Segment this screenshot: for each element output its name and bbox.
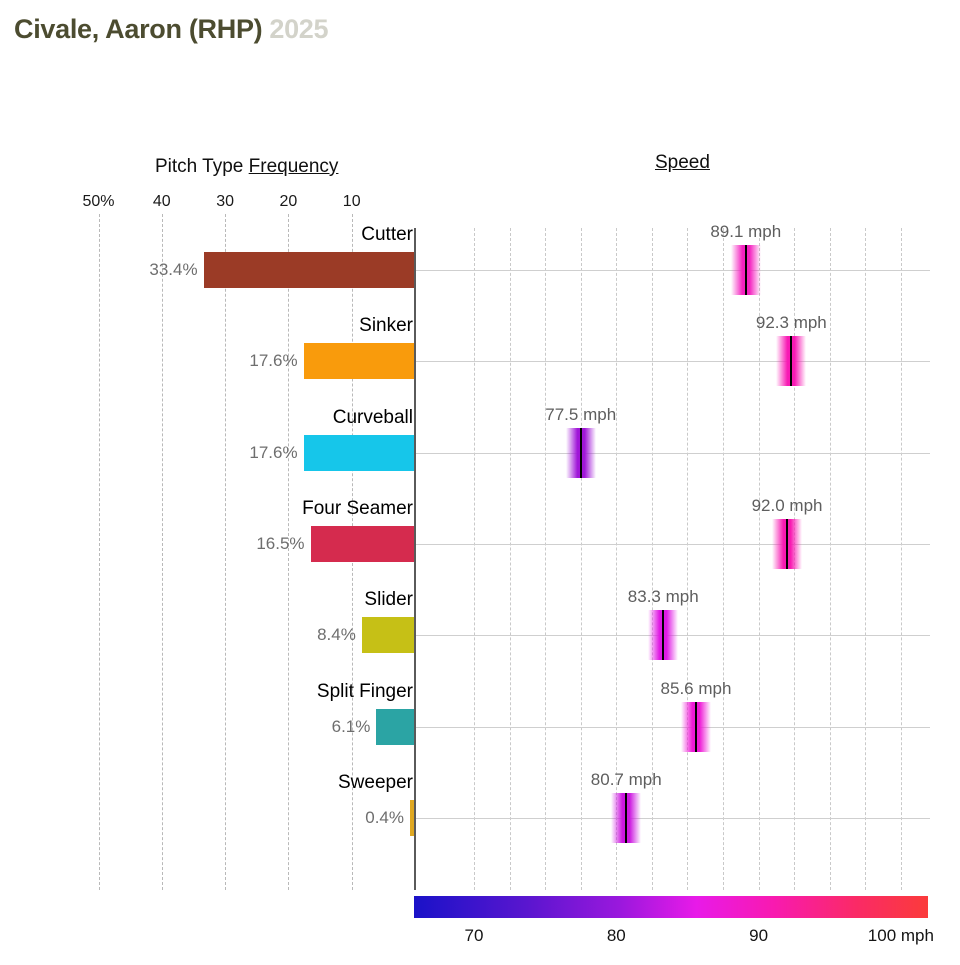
speed-tick-label: 70 [465, 926, 484, 946]
row-baseline [416, 270, 930, 271]
speed-tick-label: 100 mph [868, 926, 934, 946]
speed-marker-tick [786, 519, 788, 569]
speed-gridline [510, 228, 512, 890]
speed-colorbar [414, 896, 928, 918]
center-axis-line [414, 228, 416, 890]
pitch-frequency-value: 16.5% [256, 534, 304, 554]
pitch-type-label: Sweeper [338, 772, 413, 794]
speed-tick-label: 90 [749, 926, 768, 946]
speed-gridline [723, 228, 725, 890]
speed-marker-tick [745, 245, 747, 295]
row-baseline [416, 727, 930, 728]
pitch-type-label: Four Seamer [302, 498, 413, 520]
pitch-type-label: Cutter [361, 224, 413, 246]
pitch-frequency-value: 6.1% [332, 717, 371, 737]
pitch-speed-value: 92.3 mph [756, 313, 827, 333]
pitch-speed-marker[interactable] [648, 610, 678, 660]
pitch-frequency-bar[interactable] [362, 617, 415, 653]
speed-marker-tick [580, 428, 582, 478]
speed-gridline [545, 228, 547, 890]
row-baseline [416, 453, 930, 454]
frequency-tick-label: 50% [82, 193, 114, 211]
frequency-tick-label: 30 [216, 193, 234, 211]
speed-gridline [474, 228, 476, 890]
pitch-type-label: Split Finger [317, 681, 413, 703]
frequency-gridline [225, 214, 227, 890]
pitch-speed-marker[interactable] [681, 702, 711, 752]
row-baseline [416, 818, 930, 819]
pitch-speed-value: 83.3 mph [628, 587, 699, 607]
pitch-frequency-bar[interactable] [204, 252, 415, 288]
pitch-speed-value: 92.0 mph [752, 496, 823, 516]
frequency-tick-label: 20 [279, 193, 297, 211]
pitch-frequency-value: 8.4% [317, 625, 356, 645]
speed-gridline [687, 228, 689, 890]
speed-marker-tick [790, 336, 792, 386]
pitch-frequency-bar[interactable] [376, 709, 415, 745]
speed-marker-tick [662, 610, 664, 660]
speed-gridline [581, 228, 583, 890]
pitch-type-label: Slider [364, 589, 413, 611]
speed-marker-tick [695, 702, 697, 752]
frequency-gridline [162, 214, 164, 890]
speed-gridline [830, 228, 832, 890]
pitch-frequency-value: 17.6% [249, 443, 297, 463]
row-baseline [416, 544, 930, 545]
row-baseline [416, 361, 930, 362]
pitch-speed-marker[interactable] [611, 793, 641, 843]
pitch-frequency-value: 0.4% [365, 808, 404, 828]
pitch-frequency-bar[interactable] [311, 526, 415, 562]
speed-gridline [616, 228, 618, 890]
frequency-gridline [99, 214, 101, 890]
pitch-speed-value: 89.1 mph [710, 222, 781, 242]
frequency-tick-label: 40 [153, 193, 171, 211]
pitch-frequency-bar[interactable] [304, 343, 415, 379]
speed-tick-label: 80 [607, 926, 626, 946]
pitch-frequency-value: 17.6% [249, 351, 297, 371]
pitch-frequency-value: 33.4% [149, 260, 197, 280]
pitch-frequency-bar[interactable] [304, 435, 415, 471]
pitch-speed-value: 85.6 mph [661, 679, 732, 699]
speed-gridline [652, 228, 654, 890]
pitch-type-label: Sinker [359, 315, 413, 337]
pitch-speed-marker[interactable] [731, 245, 761, 295]
speed-gridline [901, 228, 903, 890]
pitch-type-label: Curveball [333, 407, 413, 429]
pitch-chart: 50%40302010 Cutter33.4%89.1 mphSinker17.… [0, 0, 960, 965]
pitch-speed-value: 80.7 mph [591, 770, 662, 790]
frequency-tick-label: 10 [343, 193, 361, 211]
pitch-speed-marker[interactable] [566, 428, 596, 478]
pitch-speed-marker[interactable] [776, 336, 806, 386]
speed-gridline [865, 228, 867, 890]
pitch-speed-marker[interactable] [772, 519, 802, 569]
pitch-speed-value: 77.5 mph [545, 405, 616, 425]
speed-marker-tick [625, 793, 627, 843]
